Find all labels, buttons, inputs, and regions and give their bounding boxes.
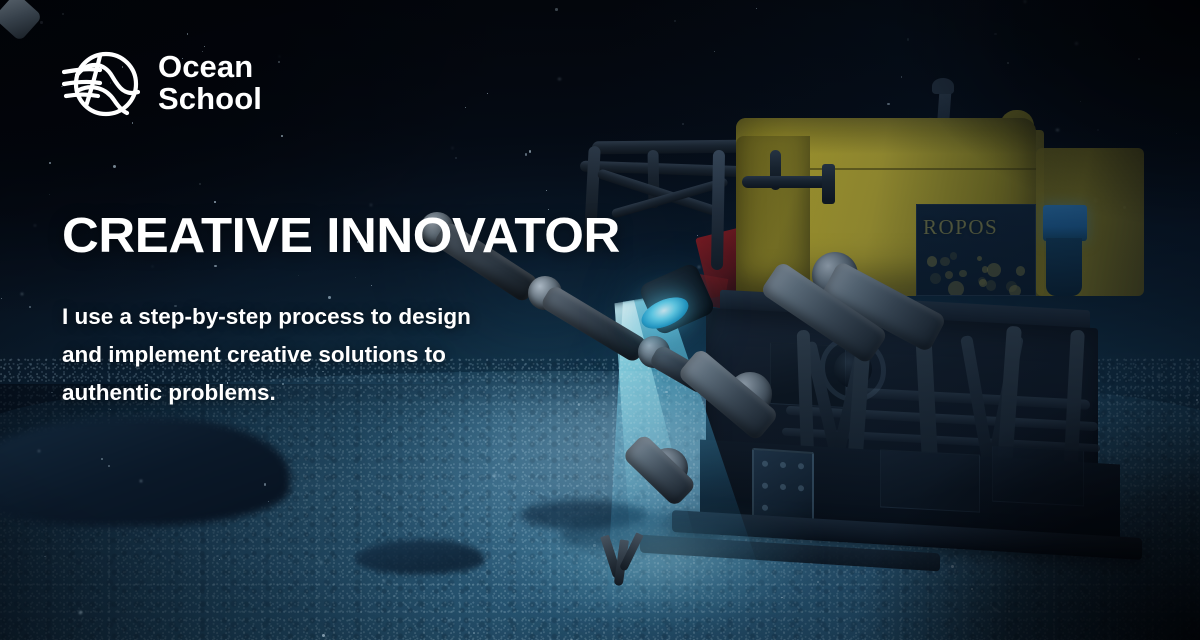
- brand-logo[interactable]: Ocean School: [62, 44, 262, 122]
- page-title: CREATIVE INNOVATOR: [62, 212, 620, 261]
- hero-description: I use a step-by-step process to design a…: [62, 298, 471, 412]
- ocean-globe-waves-icon: [62, 44, 140, 122]
- brand-wordmark: Ocean School: [158, 51, 262, 114]
- hero-banner: ROPOS: [0, 0, 1200, 640]
- hero-content: Ocean School CREATIVE INNOVATOR I use a …: [0, 0, 1200, 640]
